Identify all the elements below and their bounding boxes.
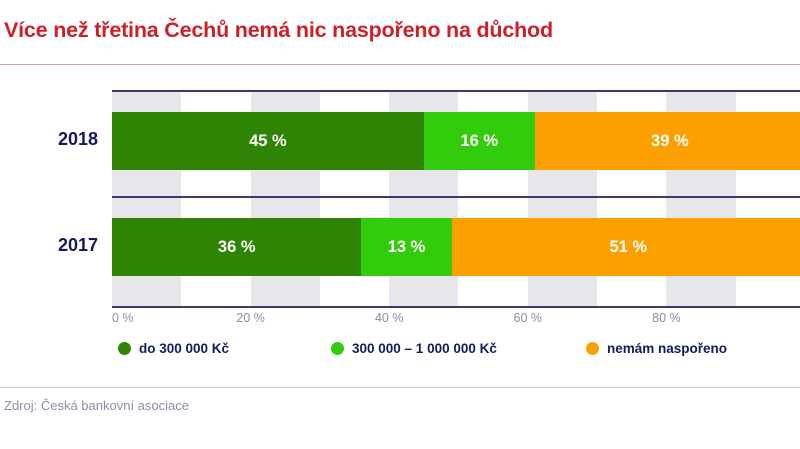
plot-top-rule bbox=[112, 90, 800, 92]
legend-label-do-300000: do 300 000 Kč bbox=[139, 341, 229, 356]
x-axis-tick-20: 20 % bbox=[236, 311, 265, 325]
bar-segment-2017-do-300000[interactable]: 36 % bbox=[112, 218, 361, 276]
category-label-2017: 2017 bbox=[0, 235, 98, 256]
legend-item-nemam-nasporeno[interactable]: nemám naspořeno bbox=[586, 341, 727, 356]
source-divider bbox=[0, 387, 800, 388]
x-axis: 0 % 20 % 40 % 60 % 80 % bbox=[112, 311, 800, 331]
plot-bottom-rule bbox=[112, 306, 800, 308]
bar-segment-2018-300000-1000000[interactable]: 16 % bbox=[424, 112, 535, 170]
legend-label-nemam-nasporeno: nemám naspořeno bbox=[607, 341, 727, 356]
bar-segment-2017-nemam-naporeno[interactable]: 51 % bbox=[452, 218, 800, 276]
legend-label-300000-1000000: 300 000 – 1 000 000 Kč bbox=[352, 341, 497, 356]
legend-swatch-dark-green-icon bbox=[118, 342, 131, 355]
x-axis-tick-0: 0 % bbox=[112, 311, 134, 325]
legend-item-do-300000[interactable]: do 300 000 Kč bbox=[118, 341, 229, 356]
source-note: Zdroj: Česká bankovní asociace bbox=[4, 398, 189, 413]
legend-item-300000-1000000[interactable]: 300 000 – 1 000 000 Kč bbox=[331, 341, 497, 356]
page-title: Více než třetina Čechů nemá nic naspořen… bbox=[4, 18, 553, 43]
bar-row-2018: 45 % 16 % 39 % bbox=[112, 112, 800, 170]
legend-swatch-orange-icon bbox=[586, 342, 599, 355]
category-label-2018: 2018 bbox=[0, 129, 98, 150]
chart-plot-area: 45 % 16 % 39 % 36 % 13 % 51 % bbox=[112, 90, 800, 308]
bar-segment-2018-nemam-risporeno[interactable]: 39 % bbox=[535, 112, 800, 170]
x-axis-tick-60: 60 % bbox=[514, 311, 543, 325]
legend-swatch-bright-green-icon bbox=[331, 342, 344, 355]
bar-segment-2018-do-300000[interactable]: 45 % bbox=[112, 112, 424, 170]
title-divider bbox=[0, 64, 800, 65]
x-axis-tick-80: 80 % bbox=[652, 311, 681, 325]
plot-middle-rule bbox=[112, 196, 800, 198]
chart-legend: do 300 000 Kč 300 000 – 1 000 000 Kč nem… bbox=[112, 341, 800, 363]
bar-row-2017: 36 % 13 % 51 % bbox=[112, 218, 800, 276]
bar-segment-2017-300000-1000000[interactable]: 13 % bbox=[361, 218, 451, 276]
x-axis-tick-40: 40 % bbox=[375, 311, 404, 325]
